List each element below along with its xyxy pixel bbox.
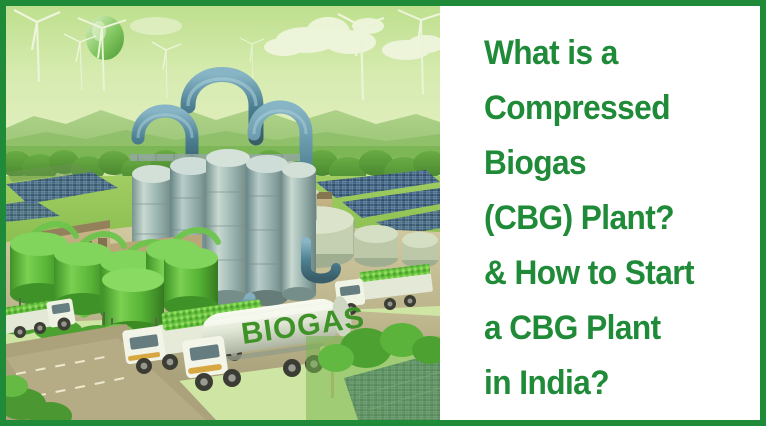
biogas-plant-illustration: BIOGAS (6, 6, 440, 420)
biogas-plant-scene-svg: BIOGAS (6, 6, 440, 420)
headline-line-1: What is a (484, 26, 737, 81)
color-grade-overlay (6, 6, 440, 420)
headline-line-5: & How to Start (484, 246, 737, 301)
headline-line-2: Compressed (484, 81, 737, 136)
headline-line-6: a CBG Plant (484, 301, 737, 356)
headline-line-7: in India? (484, 356, 737, 411)
headline-panel: What is a Compressed Biogas (CBG) Plant?… (440, 6, 766, 420)
cbg-plant-banner: BIOGAS (0, 0, 766, 426)
headline-line-4: (CBG) Plant? (484, 191, 737, 246)
headline-line-3: Biogas (484, 136, 737, 191)
